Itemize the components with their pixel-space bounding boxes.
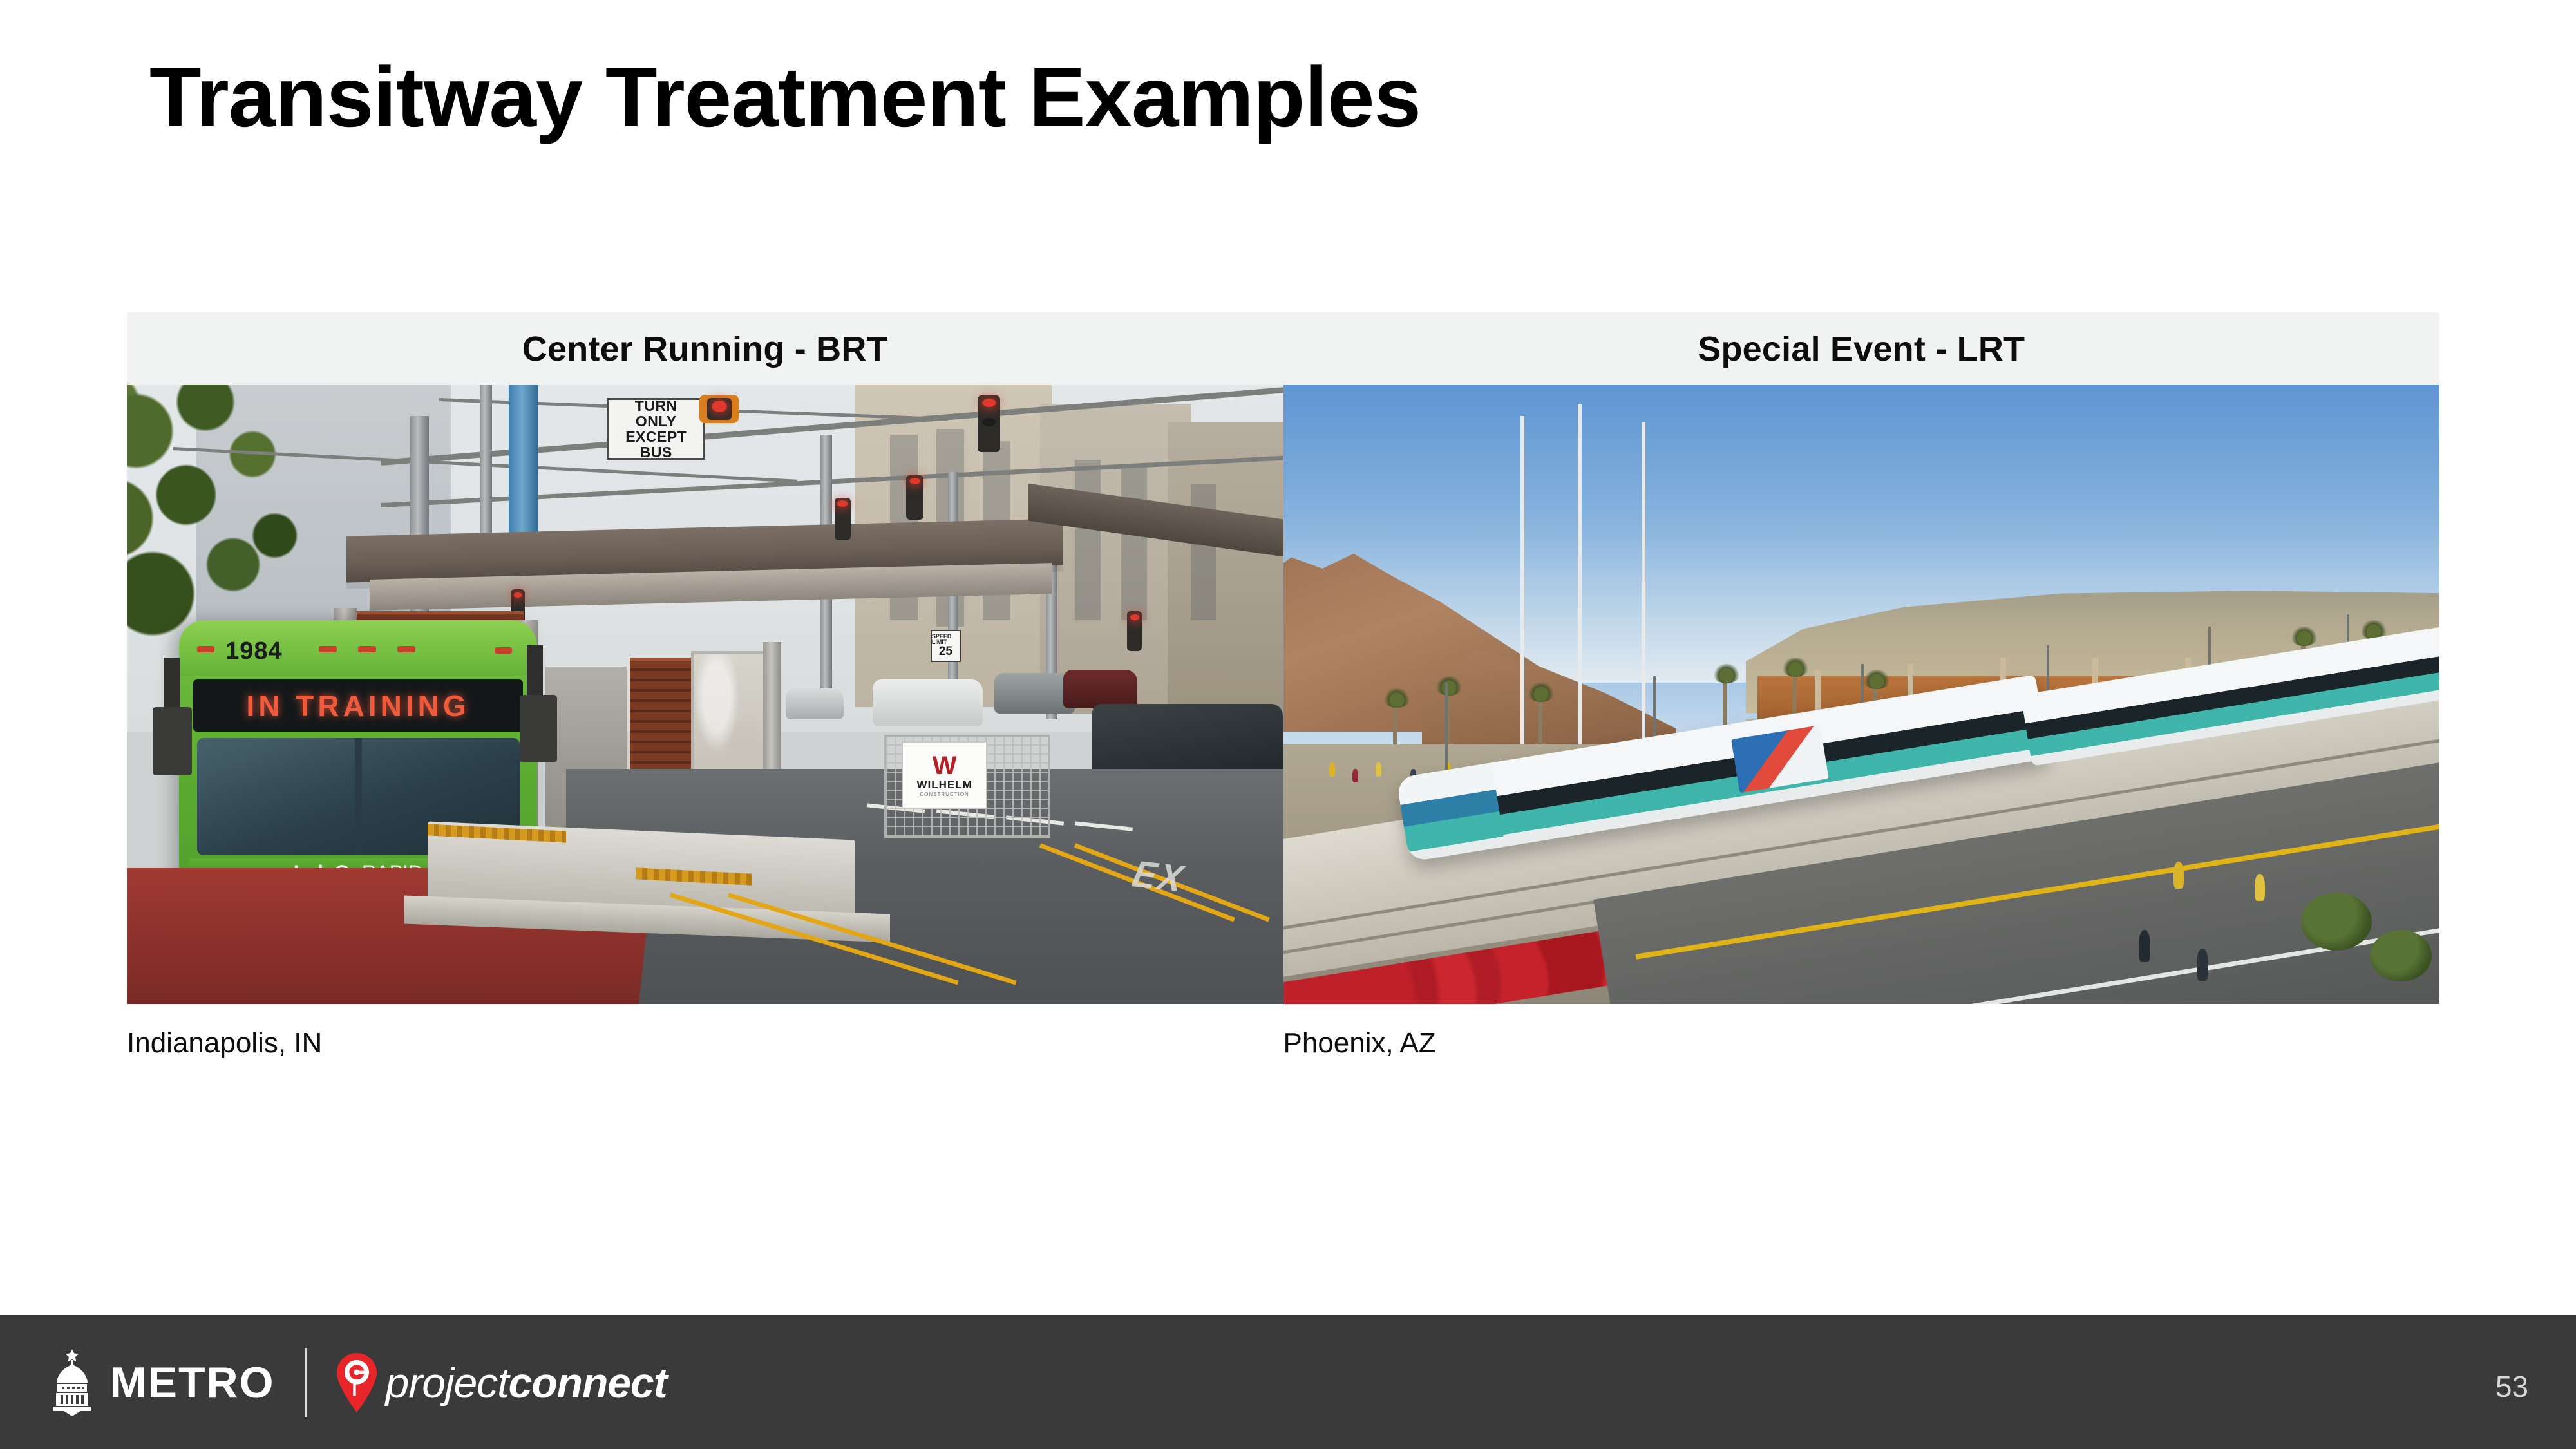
wilhelm-subtitle: CONSTRUCTION [920,791,969,797]
traffic-signal-overhead [707,398,732,421]
crowd-person [1376,762,1381,777]
palm-crown [1712,664,1741,683]
building-window [1075,460,1101,621]
panel-header-brt: Center Running - BRT [127,312,1283,385]
pedestrian-dark [2139,930,2150,962]
traffic-signal-pedestrian [1127,611,1142,650]
train-cab [1396,762,1505,862]
sign-line-1: TURN [635,398,677,413]
building-window [1121,466,1147,620]
crowd-person [1352,769,1358,782]
example-panel-lrt: Special Event - LRT [1283,312,2440,1059]
panel-header-lrt: Special Event - LRT [1283,312,2440,385]
crowd-person [1329,762,1335,777]
speed-limit-label: SPEED LIMIT [932,634,960,645]
bus-headsign: IN TRAINING [193,679,523,732]
panel-header-label-lrt: Special Event - LRT [1698,329,2025,369]
footer-logo-lockups: METRO projectconnect [48,1347,667,1418]
flagpole [1578,404,1582,762]
metro-logo: METRO [48,1349,275,1416]
bus-headsign-text: IN TRAINING [247,688,470,723]
wilhelm-construction-sign: W WILHELM CONSTRUCTION [902,741,987,809]
palm-crown [1527,683,1555,702]
background-car-far [786,688,844,719]
flagpole [1642,422,1645,762]
bus-mirror-right [520,695,556,763]
examples-grid: Center Running - BRT [127,312,2439,1059]
pc-word-project: project [386,1359,509,1406]
foreground-car-dark [1092,704,1283,775]
sign-line-4: BUS [640,444,672,460]
flagpole [1520,416,1524,762]
pedestrian-gold [2255,874,2265,901]
train-ad-wrap [1731,724,1829,793]
bus-mirror-arm-left [164,658,180,713]
speed-limit-value: 25 [939,645,952,658]
street-tree [127,385,358,658]
slide-footer: METRO projectconnect 53 [0,1315,2576,1449]
photo-phoenix-lrt [1283,385,2440,1004]
metro-wordmark: METRO [110,1361,275,1405]
photo-indianapolis-brt: TURN ONLY EXCEPT BUS SPEED LIMIT 25 [127,385,1283,1004]
traffic-signal-mid [906,475,923,520]
page-title: Transitway Treatment Examples [149,52,1421,144]
traffic-signal-right [978,395,999,452]
sign-line-3: EXCEPT [625,429,687,444]
background-car-white [873,679,983,726]
map-pin-icon [337,1353,377,1412]
sign-line-2: ONLY [636,413,677,429]
capitol-dome-icon [48,1349,96,1416]
pedestrian-gold [2173,862,2184,889]
pedestrian-dark [2197,949,2208,981]
background-building-c [1168,422,1283,719]
bus-mirror-left [153,707,192,775]
palm-crown [1435,676,1463,696]
footer-divider [305,1348,307,1417]
project-connect-wordmark: projectconnect [386,1361,667,1404]
roadside-shrub [2301,893,2372,951]
roadside-shrub [2370,930,2432,981]
pc-word-connect: connect [509,1359,667,1406]
example-panel-brt: Center Running - BRT [127,312,1283,1059]
windshield-divider [355,738,362,856]
building-window [1191,484,1217,620]
us-flag [1584,670,1605,706]
panel-header-label-brt: Center Running - BRT [522,329,888,369]
caption-phoenix: Phoenix, AZ [1283,1027,2440,1059]
bus-fleet-number: 1984 [225,638,283,665]
palm-crown [1383,688,1411,708]
wilhelm-name: WILHELM [916,779,972,791]
turn-only-except-bus-sign: TURN ONLY EXCEPT BUS [607,398,705,460]
background-car-maroon [1063,670,1137,708]
project-connect-logo: projectconnect [337,1353,667,1412]
wilhelm-w-icon: W [933,753,957,779]
page-number: 53 [2495,1369,2528,1404]
caption-indianapolis: Indianapolis, IN [127,1027,1283,1059]
traffic-signal-far [835,498,851,540]
speed-limit-sign: SPEED LIMIT 25 [931,630,961,662]
bus-mirror-arm-right [527,645,543,701]
